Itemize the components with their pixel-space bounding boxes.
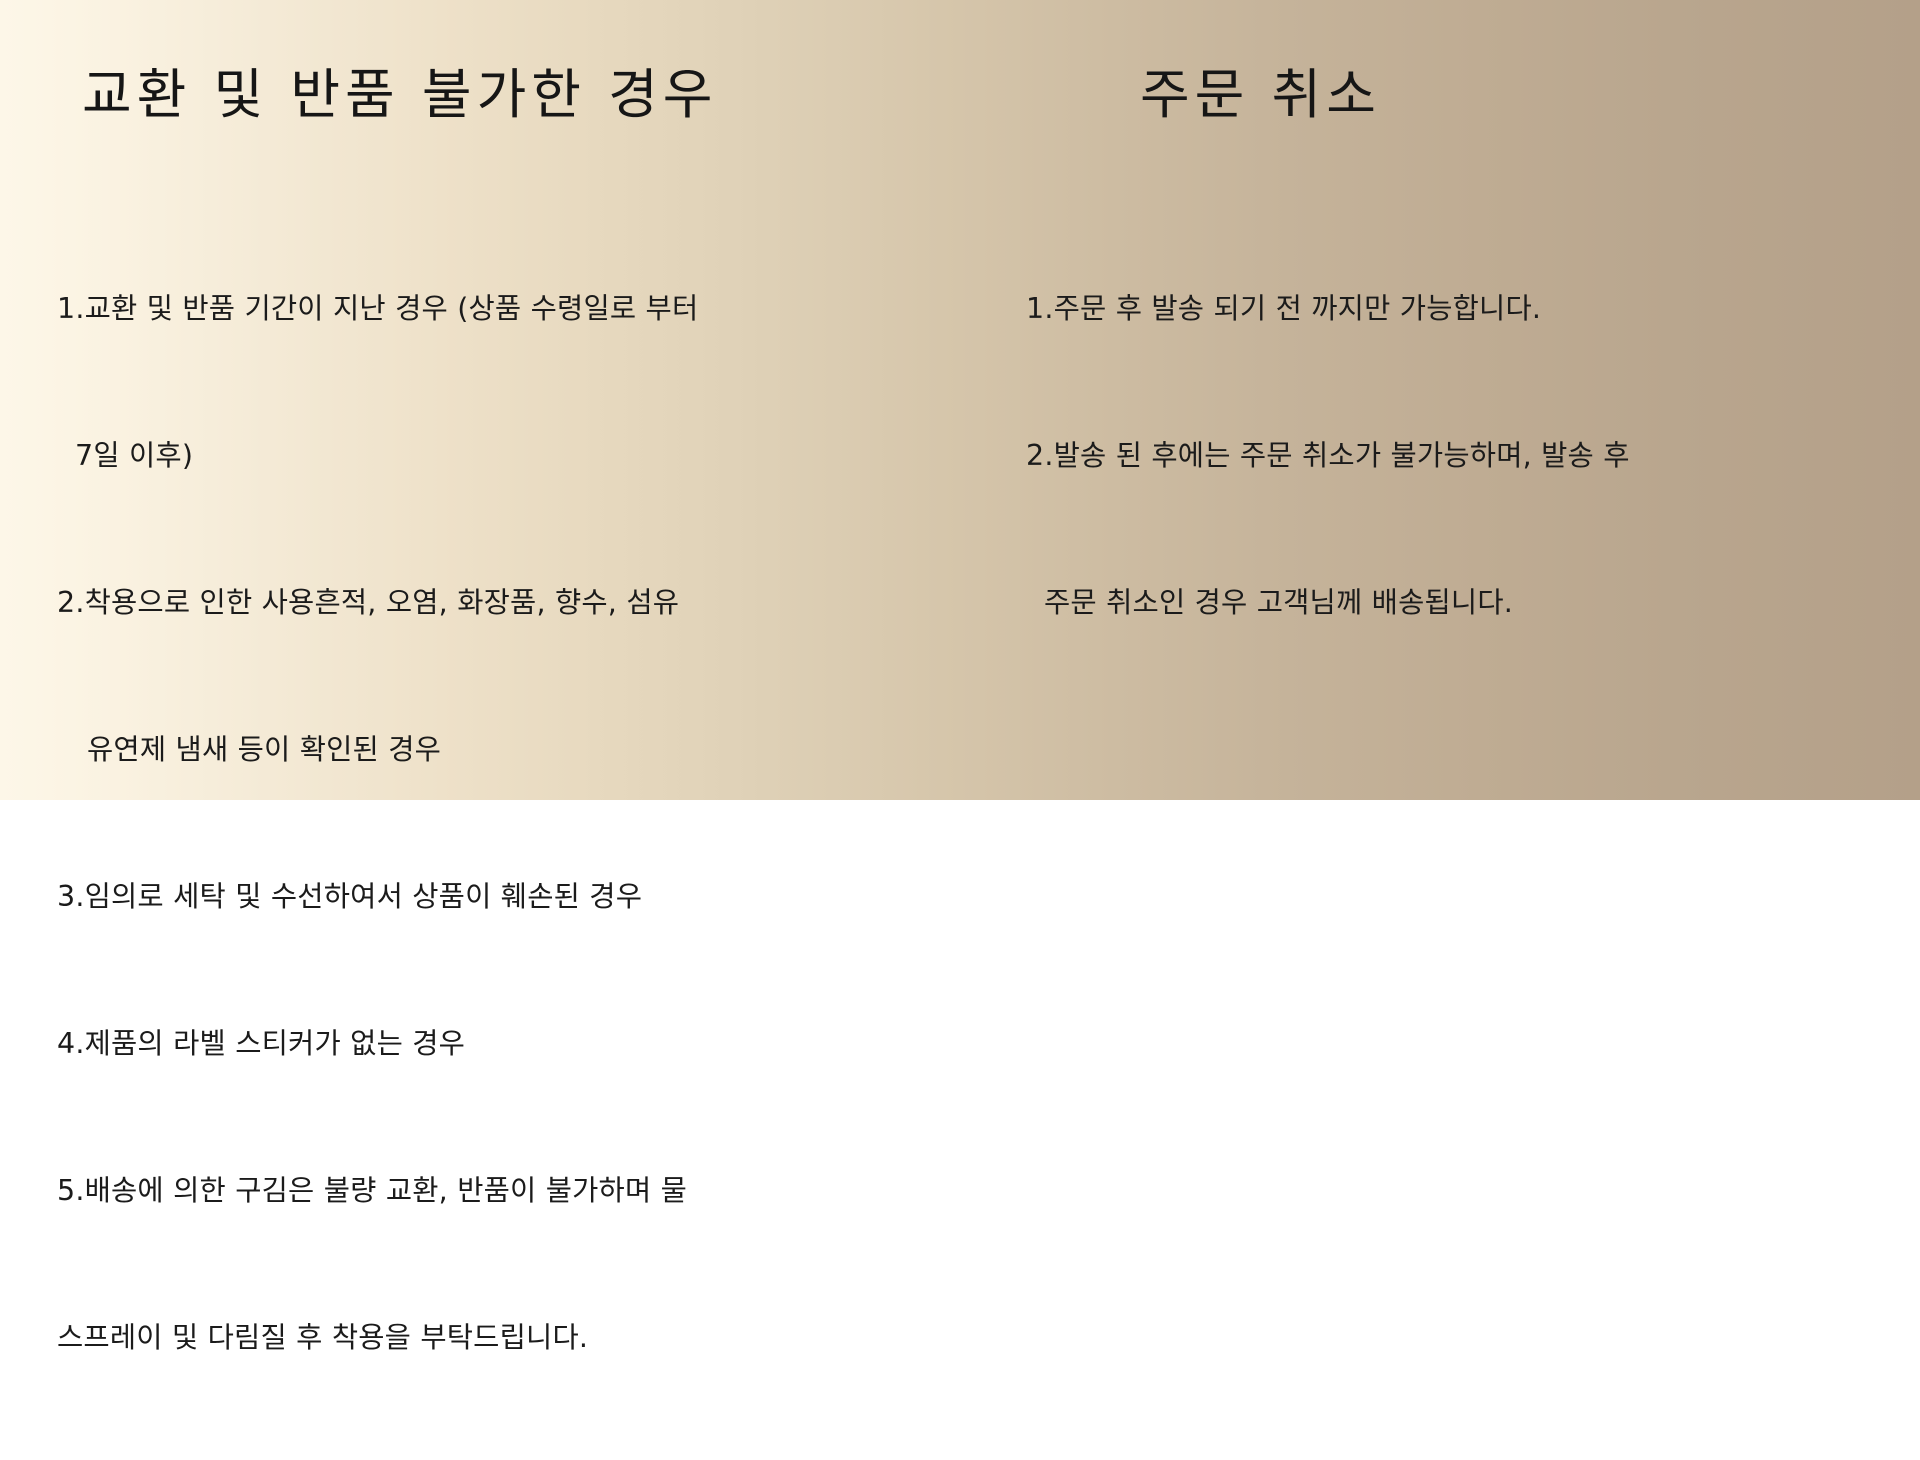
list-item: 1.주문 후 발송 되기 전 까지만 가능합니다. xyxy=(1026,284,1630,333)
list-item: 유연제 냄새 등이 확인된 경우 xyxy=(57,725,698,774)
exchange-return-heading: 교환 및 반품 불가한 경우 xyxy=(82,68,717,122)
list-item: 2.발송 된 후에는 주문 취소가 불가능하며, 발송 후 xyxy=(1026,431,1630,480)
policy-slide: 교환 및 반품 불가한 경우 1.교환 및 반품 기간이 지난 경우 (상품 수… xyxy=(0,0,1920,800)
list-item: 스프레이 및 다림질 후 착용을 부탁드립니다. xyxy=(57,1313,698,1362)
list-item: 3.임의로 세탁 및 수선하여서 상품이 훼손된 경우 xyxy=(57,872,698,921)
list-item: 4.제품의 라벨 스티커가 없는 경우 xyxy=(57,1019,698,1068)
list-item: 5.배송에 의한 구김은 불량 교환, 반품이 불가하며 물 xyxy=(57,1166,698,1215)
order-cancel-heading: 주문 취소 xyxy=(1140,68,1381,122)
list-item: 7일 이후) xyxy=(57,431,698,480)
list-item: 2.착용으로 인한 사용흔적, 오염, 화장품, 향수, 섬유 xyxy=(57,578,698,627)
order-cancel-list: 1.주문 후 발송 되기 전 까지만 가능합니다. 2.발송 된 후에는 주문 … xyxy=(1026,186,1630,725)
list-item: 1.교환 및 반품 기간이 지난 경우 (상품 수령일로 부터 xyxy=(57,284,698,333)
exchange-return-list: 1.교환 및 반품 기간이 지난 경우 (상품 수령일로 부터 7일 이후) 2… xyxy=(57,186,698,1460)
list-item: 주문 취소인 경우 고객님께 배송됩니다. xyxy=(1026,578,1630,627)
